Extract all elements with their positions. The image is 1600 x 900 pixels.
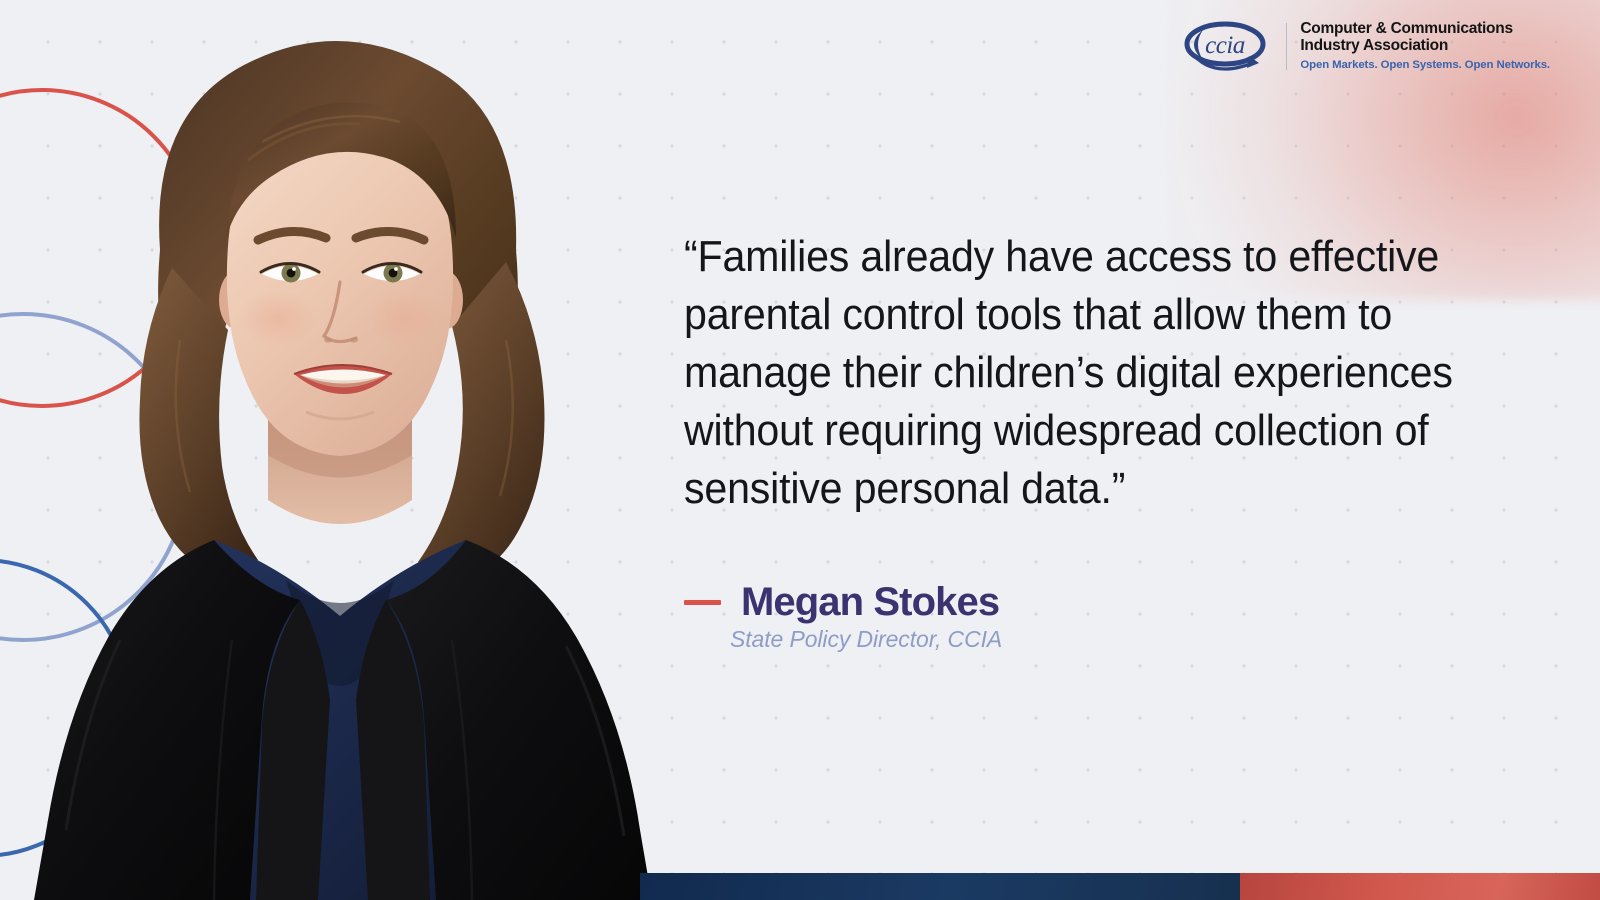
attribution-name: Megan Stokes bbox=[741, 580, 999, 625]
logo-wordmark: Computer & Communications Industry Assoc… bbox=[1298, 21, 1550, 71]
bottom-bar-red-dots bbox=[1240, 873, 1600, 900]
ccia-logo[interactable]: ccia Computer & Communications Industry … bbox=[1179, 18, 1550, 74]
quote-card-canvas: ccia Computer & Communications Industry … bbox=[0, 0, 1600, 900]
attribution-title: State Policy Director, CCIA bbox=[730, 626, 1002, 653]
attribution-dash-icon bbox=[684, 600, 721, 605]
logo-tagline: Open Markets. Open Systems. Open Network… bbox=[1300, 59, 1550, 71]
quote-block: “Families already have access to effecti… bbox=[684, 228, 1514, 518]
attribution-block: Megan Stokes State Policy Director, CCIA bbox=[684, 580, 1002, 653]
bottom-bar-red-segment bbox=[1240, 873, 1600, 900]
attribution-name-row: Megan Stokes bbox=[684, 580, 1002, 625]
logo-divider bbox=[1286, 23, 1287, 70]
svg-text:ccia: ccia bbox=[1206, 32, 1246, 59]
logo-name-line-1: Computer & Communications bbox=[1300, 21, 1550, 38]
bottom-accent-bar bbox=[640, 873, 1600, 900]
ccia-logo-mark-icon: ccia bbox=[1179, 18, 1275, 74]
logo-name-line-2: Industry Association bbox=[1300, 38, 1550, 55]
bottom-bar-navy-segment bbox=[640, 873, 1240, 900]
quote-text: “Families already have access to effecti… bbox=[684, 228, 1460, 518]
bottom-bar-navy-dots bbox=[640, 873, 1240, 900]
